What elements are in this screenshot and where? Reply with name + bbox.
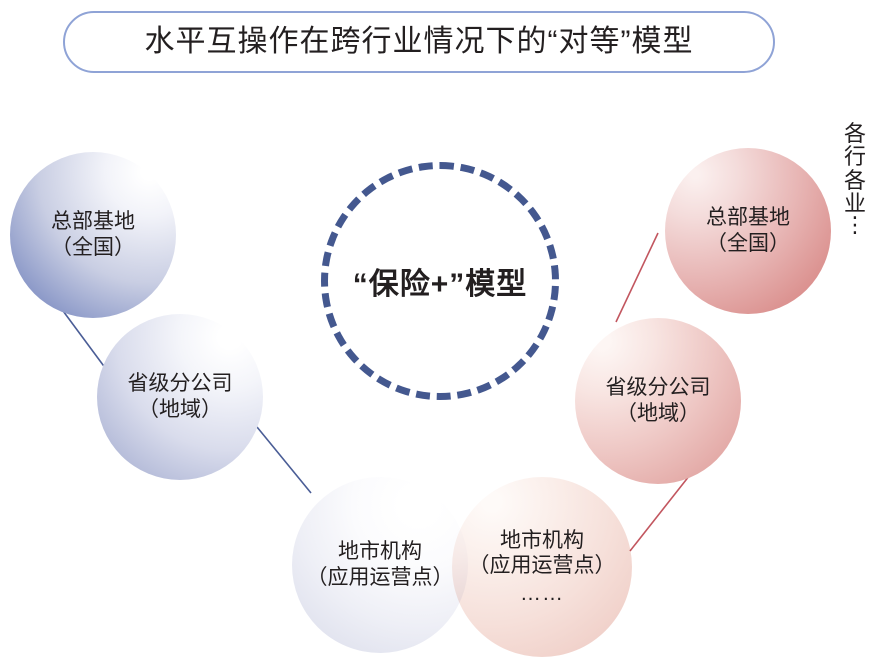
node-right-city[interactable]: 地市机构 （应用运营点） …… — [452, 477, 632, 657]
node-left-province-line2: （地域） — [138, 397, 222, 423]
page-title-text: 水平互操作在跨行业情况下的“对等”模型 — [145, 27, 694, 57]
node-right-province-line1: 省级分公司 — [606, 375, 711, 401]
side-label-char-2: 行 — [844, 145, 866, 168]
side-label-char-3: 各 — [844, 169, 866, 192]
side-label-char-1: 各 — [844, 122, 866, 145]
node-right-province[interactable]: 省级分公司 （地域） — [575, 318, 741, 484]
side-label-ellipsis: ⋮ — [844, 217, 866, 233]
connector-left-province-to-city — [257, 427, 311, 493]
node-right-headquarters-line2: （全国） — [706, 231, 790, 257]
node-left-province[interactable]: 省级分公司 （地域） — [97, 314, 263, 480]
node-left-headquarters[interactable]: 总部基地 （全国） — [10, 152, 176, 318]
node-right-city-line1: 地市机构 — [500, 528, 584, 554]
page-title: 水平互操作在跨行业情况下的“对等”模型 — [63, 11, 775, 73]
node-right-city-line2: （应用运营点） — [469, 553, 616, 579]
side-label-industries: 各 行 各 业 ⋮ — [838, 122, 872, 233]
node-right-province-line2: （地域） — [616, 401, 700, 427]
node-left-city-line2: （应用运营点） — [307, 565, 454, 591]
node-left-city[interactable]: 地市机构 （应用运营点） — [292, 477, 468, 653]
node-left-headquarters-line1: 总部基地 — [51, 209, 135, 235]
node-right-city-ellipsis: …… — [520, 581, 564, 607]
center-model-ring[interactable]: “保险+”模型 — [321, 162, 559, 400]
connector-right-hq-to-province — [616, 233, 658, 322]
node-right-headquarters-line1: 总部基地 — [706, 205, 790, 231]
node-left-province-line1: 省级分公司 — [128, 371, 233, 397]
diagram-canvas: 水平互操作在跨行业情况下的“对等”模型 总部基地 （全国） 省级分公司 （地域）… — [0, 0, 876, 662]
node-right-headquarters[interactable]: 总部基地 （全国） — [665, 148, 831, 314]
node-left-headquarters-line2: （全国） — [51, 235, 135, 261]
center-model-label: “保险+”模型 — [353, 259, 528, 303]
node-left-city-line1: 地市机构 — [338, 539, 422, 565]
